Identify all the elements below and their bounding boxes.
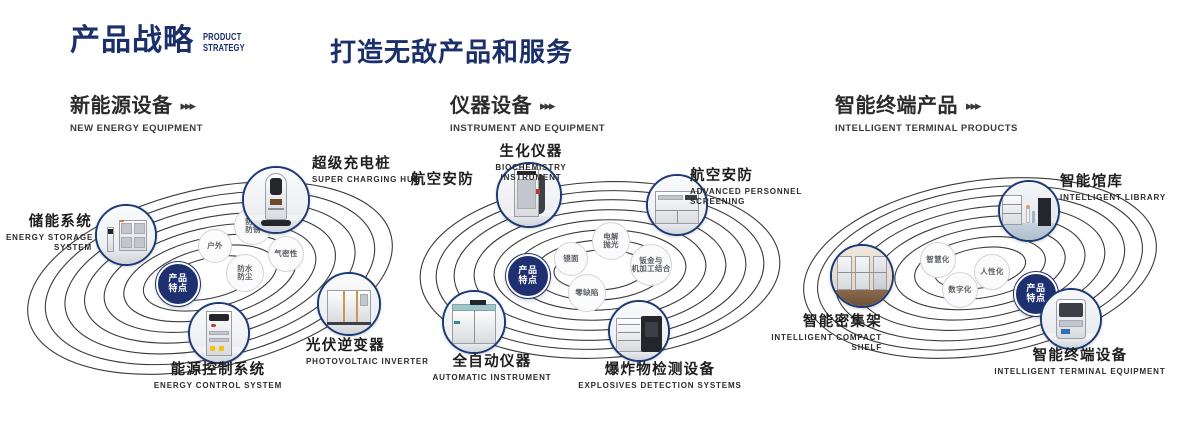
feature-bubble-mirror: 镜面: [554, 242, 588, 276]
node-caption-en-line1: EXPLOSIVES DETECTION SYSTEMS: [552, 381, 768, 392]
smart-library-icon: [1000, 182, 1058, 240]
page-title-en-line2: STRATEGY: [203, 43, 245, 54]
node-caption-en-line1: ENERGY STORAGE: [6, 233, 92, 244]
node-caption-cn: 生化仪器: [436, 144, 626, 161]
node-caption-en-line2: SCREENING: [690, 197, 802, 208]
node-caption-en-line1: ADVANCED PERSONNEL: [690, 187, 802, 198]
compact-shelf-icon: [832, 246, 892, 306]
feature-bubble-smart: 智慧化: [920, 242, 956, 278]
node-caption-explosives-detection: 爆炸物检测设备 EXPLOSIVES DETECTION SYSTEMS: [552, 362, 768, 391]
feature-bubble-line2: 防尘: [237, 273, 253, 281]
node-caption-screening: 航空安防 ADVANCED PERSONNEL SCREENING: [690, 168, 802, 208]
node-caption-cn: 智能馆库: [1060, 174, 1166, 191]
section-head-new-energy: 新能源设备▸▸▸ NEW ENERGY EQUIPMENT: [70, 96, 203, 134]
node-caption-cn: 航空安防: [690, 168, 802, 185]
section-title-cn: 新能源设备: [70, 96, 173, 116]
section-head-instrument: 仪器设备▸▸▸ INSTRUMENT AND EQUIPMENT: [450, 96, 605, 134]
feature-bubble-outdoor: 户外: [198, 229, 232, 263]
node-caption-en-line2: SHELF: [742, 343, 882, 354]
section-title-cn: 智能终端产品: [835, 96, 958, 116]
chevrons-right-icon: ▸▸▸: [966, 98, 980, 114]
node-caption-energy-control: 能源控制系统 ENERGY CONTROL SYSTEM: [118, 362, 318, 391]
product-node-charging-hub[interactable]: [242, 166, 310, 234]
feature-bubble-waterproof: 防水 防尘: [226, 254, 264, 292]
control-rack-icon: [190, 304, 248, 362]
node-caption-terminal-equipment: 智能终端设备 INTELLIGENT TERMINAL EQUIPMENT: [980, 348, 1180, 377]
node-caption-energy-storage: 储能系统 ENERGY STORAGE SYSTEM: [6, 214, 92, 254]
terminal-kiosk-icon: [1042, 290, 1100, 348]
node-caption-intelligent-library: 智能馆库 INTELLIGENT LIBRARY: [1060, 174, 1166, 203]
node-caption-cn: 能源控制系统: [118, 362, 318, 379]
node-caption-cn: 智能终端设备: [980, 348, 1180, 365]
page-slogan: 打造无敌产品和服务: [330, 32, 573, 69]
feature-bubble-zero-defect: 零缺陷: [568, 274, 606, 312]
feature-bubble-label: 户外: [207, 242, 223, 250]
feature-bubble-label: 零缺陷: [575, 289, 598, 297]
product-node-intelligent-library[interactable]: [998, 180, 1060, 242]
core-bubble-line2: 特点: [168, 284, 187, 294]
section-title-en: INTELLIGENT TERMINAL PRODUCTS: [835, 123, 1018, 134]
pv-inverter-icon: [319, 274, 379, 334]
product-node-energy-control[interactable]: [188, 302, 250, 364]
feature-bubble-label: 数字化: [948, 286, 971, 294]
charging-pile-icon: [244, 168, 308, 232]
product-node-automatic-instrument[interactable]: [442, 290, 506, 354]
page-header: 产品战略 PRODUCT STRATEGY: [70, 26, 261, 56]
node-caption-cn: 储能系统: [6, 214, 92, 231]
node-caption-compact-shelf: 智能密集架 INTELLIGENT COMPACT SHELF: [742, 314, 882, 354]
feature-bubble-sheetmetal-machining: 钣金与 机加工结合: [630, 244, 672, 286]
feature-bubble-airtight: 气密性: [268, 236, 304, 272]
section-title-en: NEW ENERGY EQUIPMENT: [70, 123, 203, 134]
node-caption-en-line1: INTELLIGENT COMPACT: [742, 333, 882, 344]
product-node-pv-inverter[interactable]: [317, 272, 381, 336]
feature-bubble-label: 人性化: [980, 268, 1003, 276]
node-caption-en-line1: INTELLIGENT LIBRARY: [1060, 193, 1166, 204]
feature-bubble-line2: 机加工结合: [632, 265, 671, 273]
product-node-explosives-detection[interactable]: [608, 300, 670, 362]
core-bubble-new-energy: 产品 特点: [156, 262, 200, 306]
feature-bubble-digital: 数字化: [942, 272, 978, 308]
auto-instrument-icon: [444, 292, 504, 352]
product-node-terminal-equipment[interactable]: [1040, 288, 1102, 350]
page-title-en: PRODUCT STRATEGY: [203, 32, 245, 54]
product-node-compact-shelf[interactable]: [830, 244, 894, 308]
product-node-energy-storage[interactable]: [95, 204, 157, 266]
node-caption-cn: 智能密集架: [742, 314, 882, 331]
section-title-cn: 仪器设备: [450, 96, 532, 116]
diagram-group-instrument: 产品 特点 镜面 电解 抛光 零缺陷 钣金与 机加工结合 航空安防: [400, 150, 800, 400]
node-caption-biochemistry: 生化仪器 BIOCHEMISTRY INSTRUMENT: [436, 144, 626, 184]
node-caption-cn: 爆炸物检测设备: [552, 362, 768, 379]
core-bubble-line2: 特点: [518, 276, 537, 286]
node-caption-en-line1: INTELLIGENT TERMINAL EQUIPMENT: [980, 367, 1180, 378]
feature-bubble-label: 气密性: [274, 250, 297, 258]
feature-bubble-electropolish: 电解 抛光: [592, 222, 630, 260]
section-title-en: INSTRUMENT AND EQUIPMENT: [450, 123, 605, 134]
node-caption-en-line2: SYSTEM: [6, 243, 92, 254]
explosive-detector-icon: [610, 302, 668, 360]
section-head-intelligent-terminal: 智能终端产品▸▸▸ INTELLIGENT TERMINAL PRODUCTS: [835, 96, 1018, 134]
diagram-group-new-energy: 产品 特点 户外 防腐 防锈 防水 防尘 气密性: [10, 150, 410, 400]
chevrons-right-icon: ▸▸▸: [181, 98, 195, 114]
energy-storage-cabinet-icon: [97, 206, 155, 264]
diagram-group-intelligent-terminal: 智慧化 人性化 数字化 产品 特点 智能馆库 INTELLIGENT LIBRA…: [790, 150, 1190, 400]
feature-bubble-label: 智慧化: [926, 256, 949, 264]
feature-bubble-label: 镜面: [563, 255, 579, 263]
page-title-cn: 产品战略: [70, 26, 194, 56]
node-caption-en-line1: ENERGY CONTROL SYSTEM: [118, 381, 318, 392]
node-caption-en-line1: BIOCHEMISTRY: [436, 163, 626, 174]
node-caption-en-line2: INSTRUMENT: [436, 173, 626, 184]
feature-bubble-line2: 抛光: [603, 241, 619, 249]
chevrons-right-icon: ▸▸▸: [540, 98, 554, 114]
feature-bubble-humanized: 人性化: [974, 254, 1010, 290]
core-bubble-instrument: 产品 特点: [506, 254, 550, 298]
